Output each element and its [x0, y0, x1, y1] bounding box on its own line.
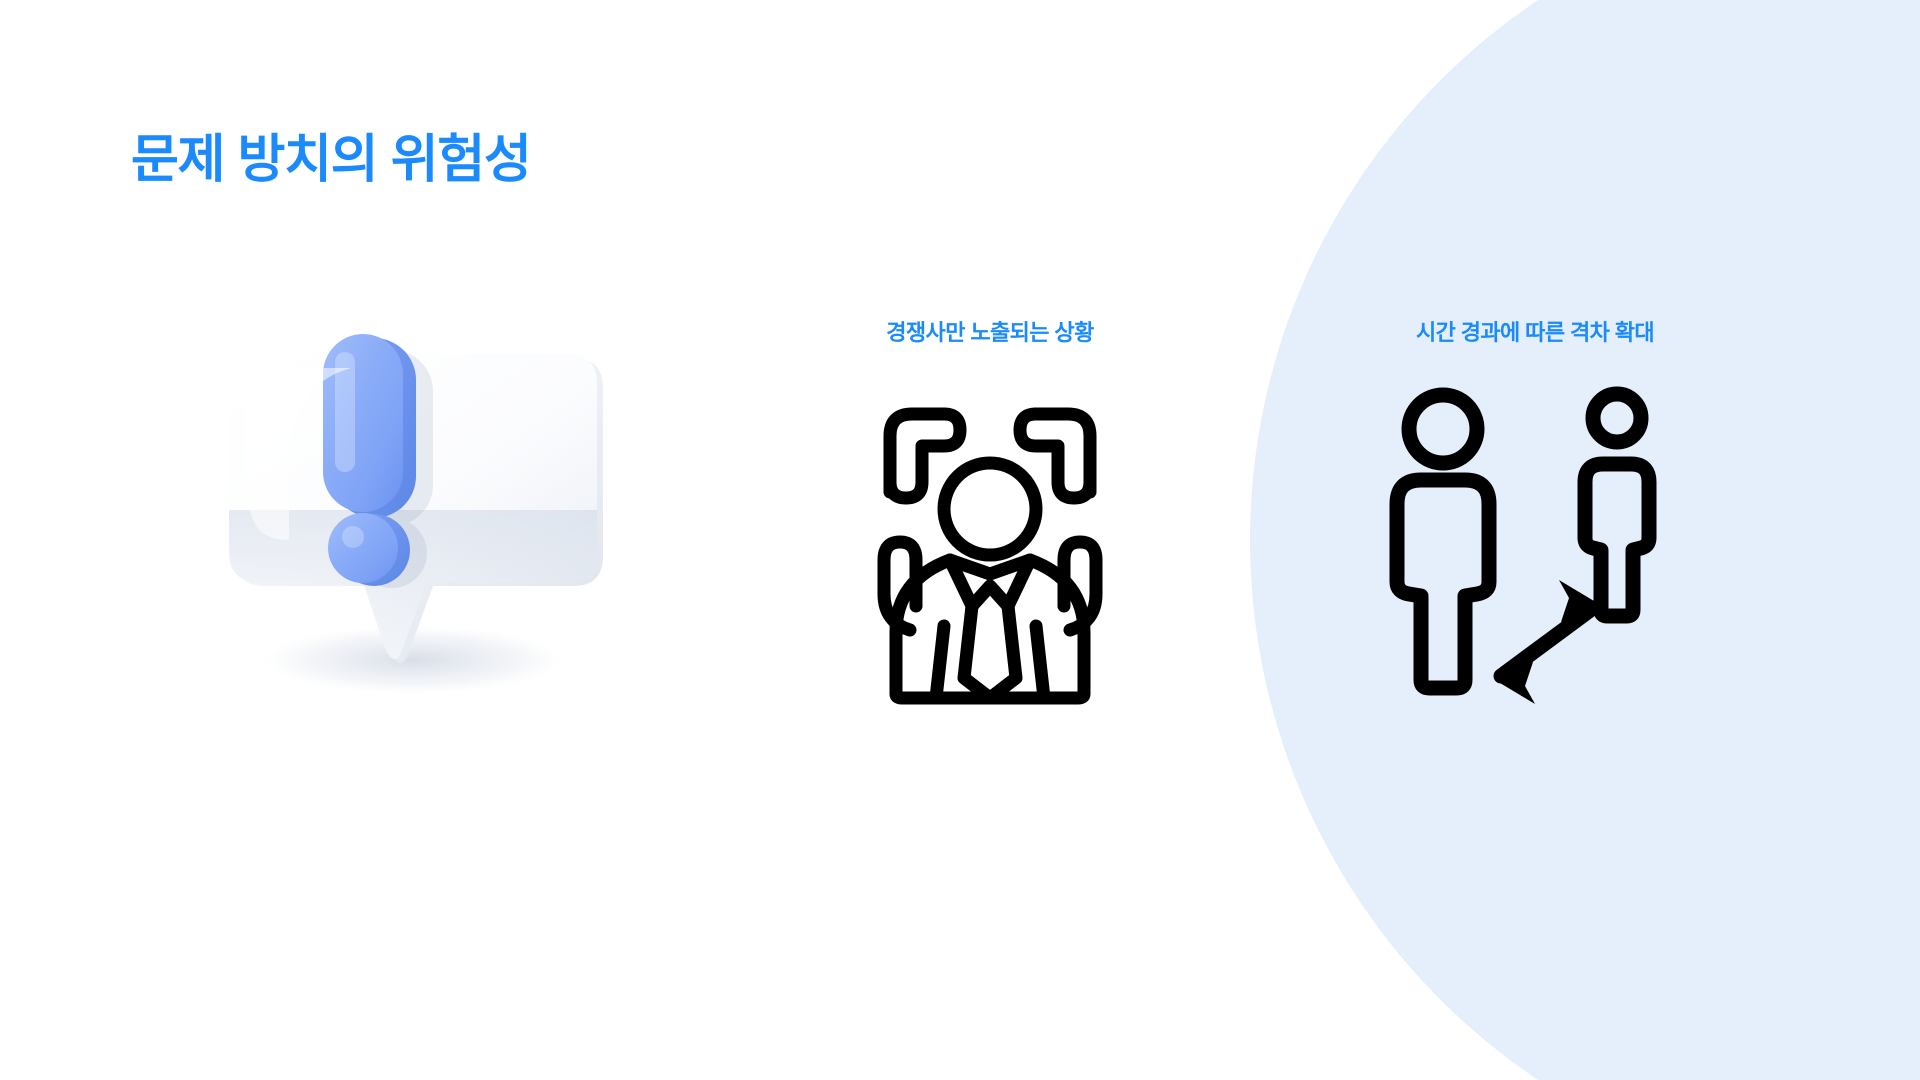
- card-gap-label: 시간 경과에 따른 격차 확대: [1416, 318, 1654, 348]
- slide-canvas: 문제 방치의 위험성: [0, 0, 1920, 1080]
- card-competitor-label: 경쟁사만 노출되는 상황: [886, 318, 1093, 348]
- card-competitor: 경쟁사만 노출되는 상황: [780, 318, 1200, 704]
- businessperson-spotlight-icon: [860, 374, 1120, 704]
- card-gap: 시간 경과에 따른 격차 확대: [1325, 318, 1745, 704]
- two-people-gap-arrow-icon: [1385, 374, 1685, 704]
- card-alert: [176, 330, 646, 806]
- page-title: 문제 방치의 위험성: [131, 131, 531, 191]
- exclamation-speech-bubble-3d-icon: [201, 330, 621, 750]
